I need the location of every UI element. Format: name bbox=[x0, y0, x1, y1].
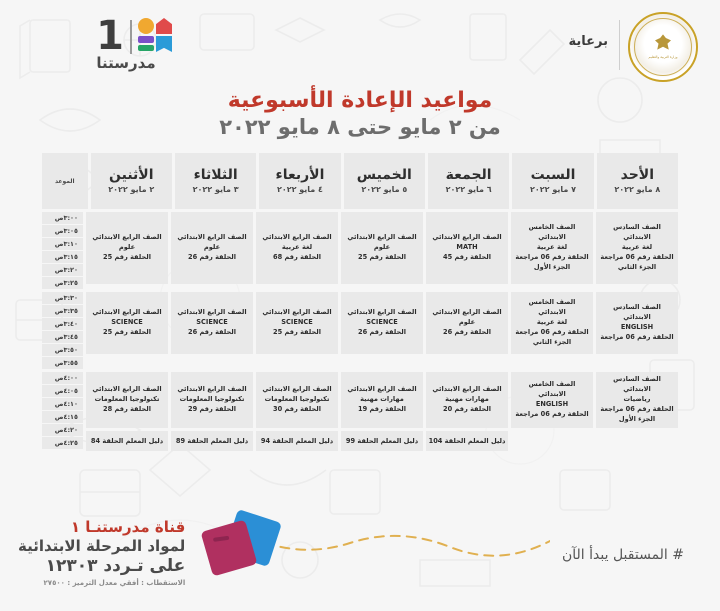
lesson-episode: الحلقة رقم 06 مراجعة bbox=[515, 253, 588, 263]
teacher-guide-cell[interactable]: دليل المعلم الحلقة 94 bbox=[256, 431, 338, 451]
time-slot: ٣:٤٠ص bbox=[42, 318, 83, 330]
lesson-subject: علوم bbox=[204, 243, 220, 253]
lesson-cell[interactable]: الصف السادس الابتدائيلغة عربيةالحلقة رقم… bbox=[596, 212, 678, 284]
lesson-subject: SCIENCE bbox=[366, 318, 397, 328]
lesson-subject: SCIENCE bbox=[196, 318, 227, 328]
lesson-episode: الحلقة رقم 06 مراجعة bbox=[600, 405, 673, 415]
lesson-cell[interactable]: الصف الخامس الابتدائيENGLISHالحلقة رقم 0… bbox=[511, 372, 593, 428]
lesson-cell[interactable]: الصف الخامس الابتدائيلغة عربيةالحلقة رقم… bbox=[511, 212, 593, 284]
lesson-episode: الحلقة رقم 25 bbox=[358, 253, 406, 263]
time-slot: ٣:٠٥ص bbox=[42, 225, 83, 237]
lesson-cell[interactable]: الصف السادس الابتدائيENGLISHالحلقة رقم 0… bbox=[596, 292, 678, 354]
lesson-subject: تكنولوجيا المعلومات bbox=[265, 395, 330, 405]
lesson-extra: الجزء الثاني bbox=[618, 263, 656, 273]
lesson-grade: الصف الرابع الابتدائي bbox=[347, 385, 416, 395]
lesson-cell[interactable]: الصف الرابع الابتدائيمهارات مهنيةالحلقة … bbox=[426, 372, 508, 428]
lesson-cell[interactable]: الصف الرابع الابتدائيعلومالحلقة رقم 26 bbox=[426, 292, 508, 354]
lesson-episode: الحلقة رقم 68 bbox=[273, 253, 321, 263]
lesson-subject: تكنولوجيا المعلومات bbox=[95, 395, 160, 405]
lesson-episode: الحلقة رقم 06 مراجعة bbox=[515, 328, 588, 338]
lesson-extra: الجزء الأول bbox=[534, 263, 570, 273]
teacher-guide-cell[interactable]: دليل المعلم الحلقة 89 bbox=[171, 431, 253, 451]
day-date: ٤ مايو ٢٠٢٢ bbox=[277, 185, 323, 194]
house-red-icon bbox=[156, 18, 172, 34]
lesson-extra: الجزء الثاني bbox=[533, 338, 571, 348]
day-name: الثلاثاء bbox=[194, 168, 238, 183]
day-name: الأربعاء bbox=[276, 168, 325, 183]
time-slot: ٤:٢٠ص bbox=[42, 424, 83, 436]
lesson-subject: لغة عربية bbox=[282, 243, 312, 253]
schedule-cell-group: الصف الرابع الابتدائيSCIENCEالحلقة رقم 2… bbox=[256, 292, 338, 369]
lesson-subject: مهارات مهنية bbox=[360, 395, 404, 405]
channel-scope: لمواد المرحلة الابتدائية bbox=[18, 537, 185, 555]
time-slot: ٤:١٥ص bbox=[42, 411, 83, 423]
lesson-subject: رياضيات bbox=[624, 395, 651, 405]
circle-orange-icon bbox=[138, 18, 154, 34]
page-subtitle: من ٢ مايو حتى ٨ مايو ٢٠٢٢ bbox=[0, 115, 720, 139]
bookmark-blue-icon bbox=[156, 36, 172, 52]
header-divider bbox=[619, 20, 620, 70]
lesson-grade: الصف السادس الابتدائي bbox=[599, 223, 675, 243]
lesson-grade: الصف الخامس الابتدائي bbox=[514, 298, 590, 318]
page-footer: # المستقبل يبدأ الآن قناة مدرستنـا ١ لمو… bbox=[0, 491, 720, 611]
table-header-time: الموعد bbox=[42, 153, 88, 209]
time-slot: ٣:٥٥ص bbox=[42, 357, 83, 369]
poster-page: وزارة التربية والتعليم برعاية 1 مدرستنا … bbox=[0, 0, 720, 611]
lesson-subject: ENGLISH bbox=[536, 400, 568, 410]
day-date: ٣ مايو ٢٠٢٢ bbox=[193, 185, 239, 194]
lesson-cell[interactable]: الصف الرابع الابتدائيتكنولوجيا المعلومات… bbox=[256, 372, 338, 428]
lesson-grade: الصف الرابع الابتدائي bbox=[347, 308, 416, 318]
day-name: الأحد bbox=[621, 168, 654, 183]
time-slot: ٣:١٠ص bbox=[42, 238, 83, 250]
lesson-cell[interactable]: الصف الرابع الابتدائيعلومالحلقة رقم 25 bbox=[341, 212, 423, 284]
lesson-cell[interactable]: الصف الرابع الابتدائيMATHالحلقة رقم 45 bbox=[426, 212, 508, 284]
teacher-guide-cell bbox=[511, 431, 593, 451]
day-date: ٥ مايو ٢٠٢٢ bbox=[361, 185, 407, 194]
lesson-cell[interactable]: الصف الرابع الابتدائيعلومالحلقة رقم 25 bbox=[86, 212, 168, 284]
lesson-cell[interactable]: الصف الخامس الابتدائيلغة عربيةالحلقة رقم… bbox=[511, 292, 593, 354]
channel-technical-details: الاستقطاب : أفقي معدل الترميز : ٢٧٥٠٠ bbox=[18, 579, 185, 587]
lesson-episode: الحلقة رقم 20 bbox=[443, 405, 491, 415]
day-name: السبت bbox=[531, 168, 576, 183]
lesson-grade: الصف الخامس الابتدائي bbox=[514, 380, 590, 400]
schedule-cell-group: الصف الخامس الابتدائيENGLISHالحلقة رقم 0… bbox=[511, 372, 593, 451]
schedule-cell-group: الصف الرابع الابتدائيMATHالحلقة رقم 45 bbox=[426, 212, 508, 289]
schedule-cell-group: الصف الرابع الابتدائيعلومالحلقة رقم 26 bbox=[171, 212, 253, 289]
schedule-cell-group: الصف الرابع الابتدائيعلومالحلقة رقم 25 bbox=[86, 212, 168, 289]
lesson-grade: الصف الرابع الابتدائي bbox=[347, 233, 416, 243]
lesson-cell[interactable]: الصف الرابع الابتدائيعلومالحلقة رقم 26 bbox=[171, 212, 253, 284]
lesson-subject: SCIENCE bbox=[111, 318, 142, 328]
egypt-ministry-emblem-icon: وزارة التربية والتعليم bbox=[628, 12, 698, 82]
lesson-cell[interactable]: الصف الرابع الابتدائيلغة عربيةالحلقة رقم… bbox=[256, 212, 338, 284]
schedule-cell-group: الصف الرابع الابتدائيSCIENCEالحلقة رقم 2… bbox=[171, 292, 253, 369]
lesson-grade: الصف الرابع الابتدائي bbox=[177, 385, 246, 395]
schedule-cell-group: الصف الرابع الابتدائيتكنولوجيا المعلومات… bbox=[256, 372, 338, 451]
lesson-cell[interactable]: الصف الرابع الابتدائيSCIENCEالحلقة رقم 2… bbox=[341, 292, 423, 354]
time-slot: ٣:٥٠ص bbox=[42, 344, 83, 356]
lesson-grade: الصف الرابع الابتدائي bbox=[177, 308, 246, 318]
lesson-cell[interactable]: الصف الرابع الابتدائيSCIENCEالحلقة رقم 2… bbox=[256, 292, 338, 354]
dashed-path-decoration bbox=[250, 519, 550, 559]
time-slot: ٣:٠٠ص bbox=[42, 212, 83, 224]
patronage-label: برعاية bbox=[569, 34, 609, 49]
table-header-day: الأثنين٢ مايو ٢٠٢٢ bbox=[91, 153, 172, 209]
lesson-cell[interactable]: الصف الرابع الابتدائيSCIENCEالحلقة رقم 2… bbox=[86, 292, 168, 354]
table-header-day: السبت٧ مايو ٢٠٢٢ bbox=[512, 153, 593, 209]
lesson-episode: الحلقة رقم 30 bbox=[273, 405, 321, 415]
time-slot: ٤:٢٥ص bbox=[42, 437, 83, 449]
lesson-cell[interactable]: الصف الرابع الابتدائيتكنولوجيا المعلومات… bbox=[86, 372, 168, 428]
schedule-cell-group: الصف الرابع الابتدائيمهارات مهنيةالحلقة … bbox=[426, 372, 508, 451]
channel-name: قناة مدرستنـا ١ bbox=[18, 518, 185, 536]
day-name: الجمعة bbox=[446, 168, 492, 183]
lesson-subject: مهارات مهنية bbox=[445, 395, 489, 405]
hashtag-slogan: # المستقبل يبدأ الآن bbox=[562, 547, 684, 563]
lesson-extra: الجزء الأول bbox=[619, 415, 655, 425]
bar-green-icon bbox=[138, 45, 154, 51]
brand-name: مدرستنا bbox=[80, 54, 172, 72]
day-name: الأثنين bbox=[109, 168, 154, 183]
lesson-subject: لغة عربية bbox=[537, 243, 567, 253]
lesson-subject: MATH bbox=[456, 243, 477, 253]
lesson-subject: ENGLISH bbox=[621, 323, 653, 333]
page-title: مواعيد الإعادة الأسبوعية bbox=[0, 88, 720, 113]
time-slot: ٤:١٠ص bbox=[42, 398, 83, 410]
emblem-caption: وزارة التربية والتعليم bbox=[648, 55, 677, 59]
page-title-block: مواعيد الإعادة الأسبوعية من ٢ مايو حتى ٨… bbox=[0, 88, 720, 139]
schedule-cell-group: الصف السادس الابتدائيرياضياتالحلقة رقم 0… bbox=[596, 372, 678, 451]
lesson-grade: الصف السادس الابتدائي bbox=[599, 303, 675, 323]
teacher-guide-cell[interactable]: دليل المعلم الحلقة 104 bbox=[426, 431, 508, 451]
time-slot: ٣:٣٠ص bbox=[42, 292, 83, 304]
teacher-guide-cell[interactable]: دليل المعلم الحلقة 99 bbox=[341, 431, 423, 451]
lesson-subject: علوم bbox=[119, 243, 135, 253]
schedule-cell-group: الصف الرابع الابتدائيتكنولوجيا المعلومات… bbox=[171, 372, 253, 451]
lesson-subject: لغة عربية bbox=[622, 243, 652, 253]
table-header-day: الأحد٨ مايو ٢٠٢٢ bbox=[597, 153, 678, 209]
lesson-grade: الصف السادس الابتدائي bbox=[599, 375, 675, 395]
table-header-day: الثلاثاء٣ مايو ٢٠٢٢ bbox=[175, 153, 256, 209]
lesson-subject: لغة عربية bbox=[537, 318, 567, 328]
lesson-grade: الصف الرابع الابتدائي bbox=[92, 308, 161, 318]
time-slot: ٣:١٥ص bbox=[42, 251, 83, 263]
day-name: الخميس bbox=[357, 168, 412, 183]
lesson-grade: الصف الرابع الابتدائي bbox=[92, 385, 161, 395]
time-slot: ٣:٤٥ص bbox=[42, 331, 83, 343]
time-slot: ٣:٣٥ص bbox=[42, 305, 83, 317]
lesson-subject: علوم bbox=[374, 243, 390, 253]
lesson-grade: الصف الخامس الابتدائي bbox=[514, 223, 590, 243]
lesson-episode: الحلقة رقم 28 bbox=[103, 405, 151, 415]
table-row: الصف السادس الابتدائيENGLISHالحلقة رقم 0… bbox=[42, 292, 678, 369]
time-slot-column: ٤:٠٠ص٤:٠٥ص٤:١٠ص٤:١٥ص٤:٢٠ص٤:٢٥ص bbox=[42, 372, 83, 451]
day-date: ٨ مايو ٢٠٢٢ bbox=[614, 185, 660, 194]
lesson-grade: الصف الرابع الابتدائي bbox=[432, 233, 501, 243]
schedule-cell-group: الصف الرابع الابتدائيعلومالحلقة رقم 26 bbox=[426, 292, 508, 369]
lesson-subject: تكنولوجيا المعلومات bbox=[180, 395, 245, 405]
books-illustration bbox=[200, 511, 290, 581]
table-row: الصف السادس الابتدائيرياضياتالحلقة رقم 0… bbox=[42, 372, 678, 451]
schedule-cell-group: الصف الرابع الابتدائيSCIENCEالحلقة رقم 2… bbox=[86, 292, 168, 369]
schedule-cell-group: الصف الرابع الابتدائيمهارات مهنيةالحلقة … bbox=[341, 372, 423, 451]
table-header-day: الخميس٥ مايو ٢٠٢٢ bbox=[344, 153, 425, 209]
lesson-episode: الحلقة رقم 29 bbox=[188, 405, 236, 415]
lesson-episode: الحلقة رقم 26 bbox=[358, 328, 406, 338]
table-row: الصف السادس الابتدائيلغة عربيةالحلقة رقم… bbox=[42, 212, 678, 289]
schedule-cell-group: الصف الخامس الابتدائيلغة عربيةالحلقة رقم… bbox=[511, 212, 593, 289]
lesson-grade: الصف الرابع الابتدائي bbox=[262, 233, 331, 243]
lesson-cell[interactable]: الصف الرابع الابتدائيSCIENCEالحلقة رقم 2… bbox=[171, 292, 253, 354]
lesson-episode: الحلقة رقم 19 bbox=[358, 405, 406, 415]
lesson-subject: SCIENCE bbox=[281, 318, 312, 328]
time-slot: ٣:٢٠ص bbox=[42, 264, 83, 276]
table-header-day: الأربعاء٤ مايو ٢٠٢٢ bbox=[259, 153, 340, 209]
lesson-episode: الحلقة رقم 25 bbox=[103, 253, 151, 263]
lesson-episode: الحلقة رقم 26 bbox=[188, 253, 236, 263]
lesson-episode: الحلقة رقم 06 مراجعة bbox=[600, 333, 673, 343]
schedule-table: الأحد٨ مايو ٢٠٢٢السبت٧ مايو ٢٠٢٢الجمعة٦ … bbox=[42, 153, 678, 454]
day-date: ٧ مايو ٢٠٢٢ bbox=[530, 185, 576, 194]
brand-channel-number: 1 bbox=[96, 16, 124, 56]
lesson-grade: الصف الرابع الابتدائي bbox=[432, 385, 501, 395]
schedule-cell-group: الصف الرابع الابتدائيتكنولوجيا المعلومات… bbox=[86, 372, 168, 451]
schedule-cell-group: الصف الرابع الابتدائيلغة عربيةالحلقة رقم… bbox=[256, 212, 338, 289]
madrasatna-brand-logo: 1 مدرستنا bbox=[22, 14, 172, 80]
lesson-grade: الصف الرابع الابتدائي bbox=[262, 385, 331, 395]
lesson-subject: علوم bbox=[459, 318, 475, 328]
table-header-row: الأحد٨ مايو ٢٠٢٢السبت٧ مايو ٢٠٢٢الجمعة٦ … bbox=[42, 153, 678, 209]
lesson-grade: الصف الرابع الابتدائي bbox=[432, 308, 501, 318]
lesson-cell[interactable]: الصف السادس الابتدائيرياضياتالحلقة رقم 0… bbox=[596, 372, 678, 428]
lesson-episode: الحلقة رقم 45 bbox=[443, 253, 491, 263]
lesson-episode: الحلقة رقم 25 bbox=[103, 328, 151, 338]
brand-tiles-icon bbox=[136, 18, 172, 52]
time-slot: ٤:٠٠ص bbox=[42, 372, 83, 384]
lesson-grade: الصف الرابع الابتدائي bbox=[177, 233, 246, 243]
teacher-guide-cell bbox=[596, 431, 678, 451]
schedule-cell-group: الصف الخامس الابتدائيلغة عربيةالحلقة رقم… bbox=[511, 292, 593, 369]
teacher-guide-cell[interactable]: دليل المعلم الحلقة 84 bbox=[86, 431, 168, 451]
lesson-episode: الحلقة رقم 26 bbox=[188, 328, 236, 338]
schedule-cell-group: الصف الرابع الابتدائيعلومالحلقة رقم 25 bbox=[341, 212, 423, 289]
lesson-episode: الحلقة رقم 06 مراجعة bbox=[600, 253, 673, 263]
time-slot-column: ٣:٠٠ص٣:٠٥ص٣:١٠ص٣:١٥ص٣:٢٠ص٣:٢٥ص bbox=[42, 212, 83, 289]
lesson-cell[interactable]: الصف الرابع الابتدائيتكنولوجيا المعلومات… bbox=[171, 372, 253, 428]
eagle-icon bbox=[655, 34, 671, 54]
table-header-day: الجمعة٦ مايو ٢٠٢٢ bbox=[428, 153, 509, 209]
brand-divider bbox=[130, 20, 132, 54]
lesson-episode: الحلقة رقم 26 bbox=[443, 328, 491, 338]
page-header: وزارة التربية والتعليم برعاية 1 مدرستنا bbox=[0, 0, 720, 88]
schedule-cell-group: الصف الرابع الابتدائيSCIENCEالحلقة رقم 2… bbox=[341, 292, 423, 369]
time-slot-column: ٣:٣٠ص٣:٣٥ص٣:٤٠ص٣:٤٥ص٣:٥٠ص٣:٥٥ص bbox=[42, 292, 83, 369]
schedule-cell-group: الصف السادس الابتدائيلغة عربيةالحلقة رقم… bbox=[596, 212, 678, 289]
schedule-cell-group: الصف السادس الابتدائيENGLISHالحلقة رقم 0… bbox=[596, 292, 678, 369]
lesson-cell[interactable]: الصف الرابع الابتدائيمهارات مهنيةالحلقة … bbox=[341, 372, 423, 428]
time-slot: ٣:٢٥ص bbox=[42, 277, 83, 289]
lesson-grade: الصف الرابع الابتدائي bbox=[92, 233, 161, 243]
day-date: ٢ مايو ٢٠٢٢ bbox=[108, 185, 154, 194]
channel-info-block: قناة مدرستنـا ١ لمواد المرحلة الابتدائية… bbox=[18, 518, 185, 587]
channel-frequency: على تـردد ١٢٣٠٣ bbox=[18, 556, 185, 576]
bar-purple-icon bbox=[138, 36, 154, 43]
lesson-episode: الحلقة رقم 06 مراجعة bbox=[515, 410, 588, 420]
day-date: ٦ مايو ٢٠٢٢ bbox=[446, 185, 492, 194]
lesson-episode: الحلقة رقم 25 bbox=[273, 328, 321, 338]
time-slot: ٤:٠٥ص bbox=[42, 385, 83, 397]
lesson-grade: الصف الرابع الابتدائي bbox=[262, 308, 331, 318]
